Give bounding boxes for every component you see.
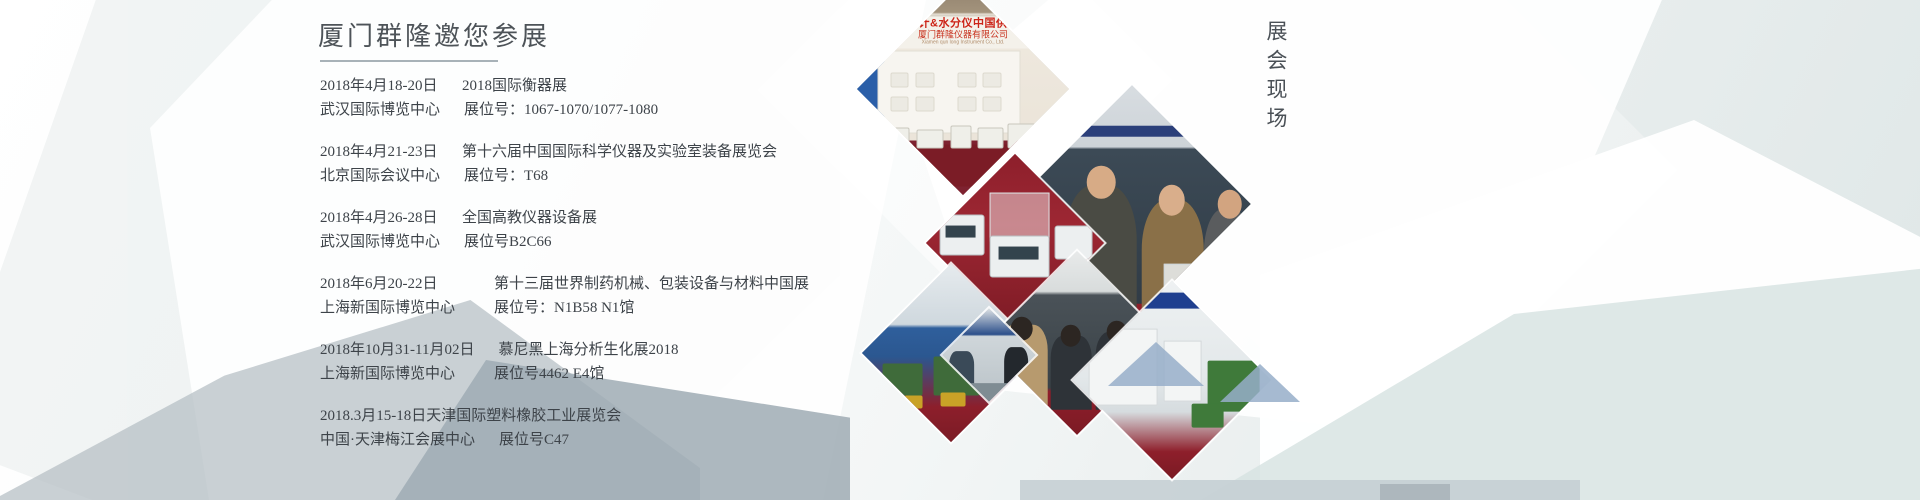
event-date: 2018年4月18-20日 — [320, 74, 438, 98]
vertical-title: 展会现场 — [1255, 20, 1291, 136]
event-name: 第十六届中国国际科学仪器及实验室装备展览会 — [462, 140, 777, 164]
event-booth: 展位号B2C66 — [464, 230, 552, 254]
booth-banner-pinyin: Xiamen qun long Instrument Co., Ltd. — [865, 39, 1061, 45]
decorative-triangle-2 — [1220, 364, 1300, 402]
event-booth: 展位号：1067-1070/1077-1080 — [464, 98, 658, 122]
event-date-and-name: 2018.3月15-18日天津国际塑料橡胶工业展览会 — [320, 408, 621, 424]
event-booth: 展位号：T68 — [464, 164, 548, 188]
photo-image-booth: 密度计&水分仪中国供应商 厦门群隆仪器有限公司 Xiamen qun long … — [857, 0, 1069, 195]
exhibition-banner: 厦门群隆邀您参展 2018年4月18-20日 2018国际衡器展 武汉国际博览中… — [0, 0, 1920, 500]
collage-photo-booth: 密度计&水分仪中国供应商 厦门群隆仪器有限公司 Xiamen qun long … — [857, 0, 1069, 195]
event-booth: 展位号C47 — [499, 428, 569, 452]
event-name: 慕尼黑上海分析生化展2018 — [498, 338, 678, 362]
event-venue: 武汉国际博览中心 — [320, 230, 440, 254]
decorative-triangle-1 — [1108, 342, 1204, 386]
event-date: 2018年6月20-22日 — [320, 272, 470, 296]
event-booth: 展位号：N1B58 N1馆 — [494, 296, 634, 320]
photo-collage: 密度计&水分仪中国供应商 厦门群隆仪器有限公司 Xiamen qun long … — [860, 0, 1280, 490]
booth-wall — [878, 51, 1021, 134]
event-date: 2018年4月21-23日 — [320, 140, 438, 164]
bg-bottom-strip-2 — [1380, 484, 1450, 500]
event-date: 2018年4月26-28日 — [320, 206, 438, 230]
photo-detail — [1013, 125, 1251, 137]
event-venue: 中国·天津梅江会展中心 — [320, 428, 475, 452]
event-booth: 展位号4462 E4馆 — [494, 362, 604, 386]
event-venue: 上海新国际博览中心 — [320, 296, 470, 320]
event-venue: 武汉国际博览中心 — [320, 98, 440, 122]
booth-banner: 密度计&水分仪中国供应商 厦门群隆仪器有限公司 Xiamen qun long … — [865, 14, 1061, 48]
booth-banner-main: 密度计&水分仪中国供应商 — [865, 16, 1061, 29]
event-date: 2018年10月31-11月02日 — [320, 338, 474, 362]
event-name: 第十三届世界制药机械、包装设备与材料中国展 — [494, 272, 809, 296]
title-underline — [320, 60, 498, 62]
event-venue: 上海新国际博览中心 — [320, 362, 470, 386]
event-venue: 北京国际会议中心 — [320, 164, 440, 188]
event-name: 2018国际衡器展 — [462, 74, 567, 98]
event-name: 全国高教仪器设备展 — [462, 206, 597, 230]
booth-banner-company: 厦门群隆仪器有限公司 — [865, 29, 1061, 39]
